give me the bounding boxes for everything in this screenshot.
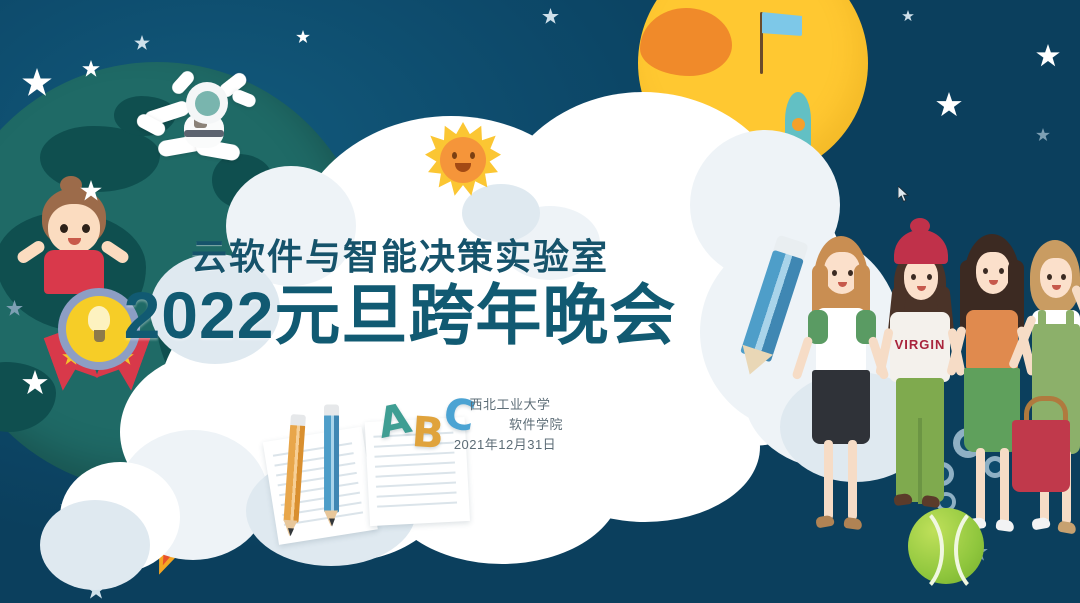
- subtitle-department: 软件学院: [0, 415, 1080, 435]
- title-line-1: 云软件与智能决策实验室: [0, 236, 800, 277]
- subtitle-university: 西北工业大学: [0, 395, 1080, 415]
- subtitle-date: 2021年12月31日: [0, 435, 1080, 455]
- poster-canvas: A B C: [0, 0, 1080, 603]
- beanie-pom: [910, 218, 930, 234]
- title-line-2: 2022元旦跨年晚会: [0, 279, 800, 352]
- subtitle-block: 西北工业大学 软件学院 2021年12月31日: [0, 395, 1080, 455]
- shirt-text: VIRGIN: [890, 336, 950, 354]
- mouse-pointer-icon: [898, 186, 910, 203]
- tennis-ball-icon: [908, 508, 984, 584]
- title-block: 云软件与智能决策实验室 2022元旦跨年晚会: [0, 236, 800, 352]
- red-beanie-hat: [894, 230, 948, 264]
- sun-face: [440, 137, 486, 183]
